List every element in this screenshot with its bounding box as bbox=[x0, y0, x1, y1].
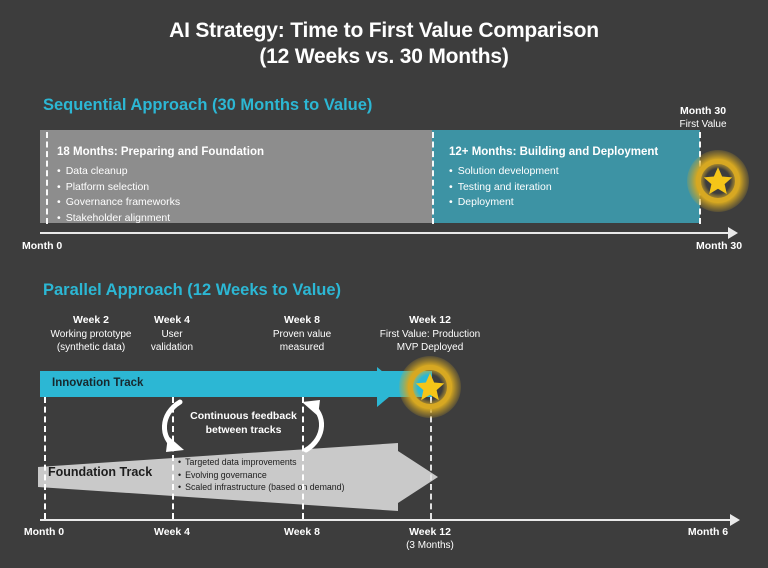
parallel-axis-line bbox=[40, 519, 732, 521]
first-value-badge-parallel bbox=[399, 356, 461, 418]
milestone-week-8: Week 8 Proven value measured bbox=[246, 314, 358, 354]
sequential-phase-foundation-list: Data cleanup Platform selection Governan… bbox=[57, 164, 180, 226]
milestone-desc-line1: Working prototype bbox=[51, 329, 132, 340]
parallel-gridline-week-4 bbox=[172, 397, 174, 519]
milestone-desc-line2: MVP Deployed bbox=[397, 342, 464, 353]
tick-label: Week 12 bbox=[409, 526, 451, 538]
feedback-line2: between tracks bbox=[176, 423, 311, 437]
milestone-desc-line1: User bbox=[161, 329, 182, 340]
tick-label: Month 0 bbox=[24, 526, 64, 538]
tick-label: Week 4 bbox=[154, 526, 190, 538]
list-item: Targeted data improvements bbox=[178, 456, 345, 469]
parallel-tick-week-12: Week 12 (3 Months) bbox=[380, 525, 480, 553]
innovation-track-label: Innovation Track bbox=[52, 377, 143, 389]
parallel-gridline-month-0 bbox=[44, 397, 46, 519]
sequential-first-value-callout: Month 30 First Value bbox=[648, 105, 758, 131]
parallel-tick-week-8: Week 8 bbox=[252, 525, 352, 539]
sequential-axis-line bbox=[40, 232, 730, 234]
sequential-axis-end-label: Month 30 bbox=[696, 240, 742, 252]
sequential-divider-mid bbox=[432, 132, 434, 224]
sequential-callout-line2: First Value bbox=[648, 118, 758, 131]
parallel-tick-month-6: Month 6 bbox=[658, 525, 758, 539]
milestone-desc-line1: First Value: Production bbox=[380, 329, 480, 340]
sequential-phase-foundation-title: 18 Months: Preparing and Foundation bbox=[57, 146, 264, 158]
milestone-week-4: Week 4 User validation bbox=[132, 314, 212, 354]
sequential-axis-arrow-icon bbox=[728, 227, 738, 239]
parallel-section-heading: Parallel Approach (12 Weeks to Value) bbox=[43, 281, 341, 300]
list-item: Stakeholder alignment bbox=[57, 211, 180, 227]
milestone-week-12: Week 12 First Value: Production MVP Depl… bbox=[349, 314, 511, 354]
sequential-phase-building-title: 12+ Months: Building and Deployment bbox=[449, 146, 658, 158]
list-item: Deployment bbox=[449, 195, 559, 211]
list-item: Scaled infrastructure (based on demand) bbox=[178, 481, 345, 494]
continuous-feedback-text: Continuous feedback between tracks bbox=[176, 409, 311, 437]
tick-sublabel: (3 Months) bbox=[380, 539, 480, 553]
foundation-track-label: Foundation Track bbox=[48, 465, 152, 479]
star-icon bbox=[702, 165, 734, 197]
sequential-phase-foundation-bar: 18 Months: Preparing and Foundation Data… bbox=[40, 130, 432, 223]
list-item: Solution development bbox=[449, 164, 559, 180]
list-item: Governance frameworks bbox=[57, 195, 180, 211]
sequential-axis-start-label: Month 0 bbox=[22, 240, 62, 252]
milestone-week-label: Week 12 bbox=[349, 314, 511, 327]
page-title-line1: AI Strategy: Time to First Value Compari… bbox=[0, 18, 768, 44]
milestone-desc-line2: measured bbox=[280, 342, 324, 353]
slide-canvas: AI Strategy: Time to First Value Compari… bbox=[0, 0, 768, 568]
milestone-desc-line1: Proven value bbox=[273, 329, 331, 340]
parallel-tick-week-4: Week 4 bbox=[122, 525, 222, 539]
parallel-gridline-week-8 bbox=[302, 397, 304, 519]
milestone-desc-line2: (synthetic data) bbox=[57, 342, 125, 353]
foundation-track-list: Targeted data improvements Evolving gove… bbox=[178, 456, 345, 494]
innovation-track-arrowhead-icon bbox=[377, 367, 401, 407]
tick-label: Week 8 bbox=[284, 526, 320, 538]
innovation-track-bar: Innovation Track bbox=[40, 371, 432, 397]
sequential-divider-start bbox=[46, 132, 48, 224]
list-item: Data cleanup bbox=[57, 164, 180, 180]
list-item: Testing and iteration bbox=[449, 180, 559, 196]
milestone-week-label: Week 8 bbox=[246, 314, 358, 327]
sequential-phase-building-bar: 12+ Months: Building and Deployment Solu… bbox=[432, 130, 700, 223]
sequential-phase-building-list: Solution development Testing and iterati… bbox=[449, 164, 559, 211]
tick-label: Month 6 bbox=[688, 526, 728, 538]
feedback-line1: Continuous feedback bbox=[176, 409, 311, 423]
page-title-line2: (12 Weeks vs. 30 Months) bbox=[0, 44, 768, 70]
milestone-desc-line2: validation bbox=[151, 342, 193, 353]
first-value-badge-sequential bbox=[687, 150, 749, 212]
sequential-callout-line1: Month 30 bbox=[648, 105, 758, 118]
star-icon bbox=[414, 371, 446, 403]
milestone-week-label: Week 4 bbox=[132, 314, 212, 327]
list-item: Platform selection bbox=[57, 180, 180, 196]
page-title: AI Strategy: Time to First Value Compari… bbox=[0, 18, 768, 70]
list-item: Evolving governance bbox=[178, 469, 345, 482]
sequential-section-heading: Sequential Approach (30 Months to Value) bbox=[43, 96, 372, 115]
parallel-tick-month-0: Month 0 bbox=[0, 525, 94, 539]
